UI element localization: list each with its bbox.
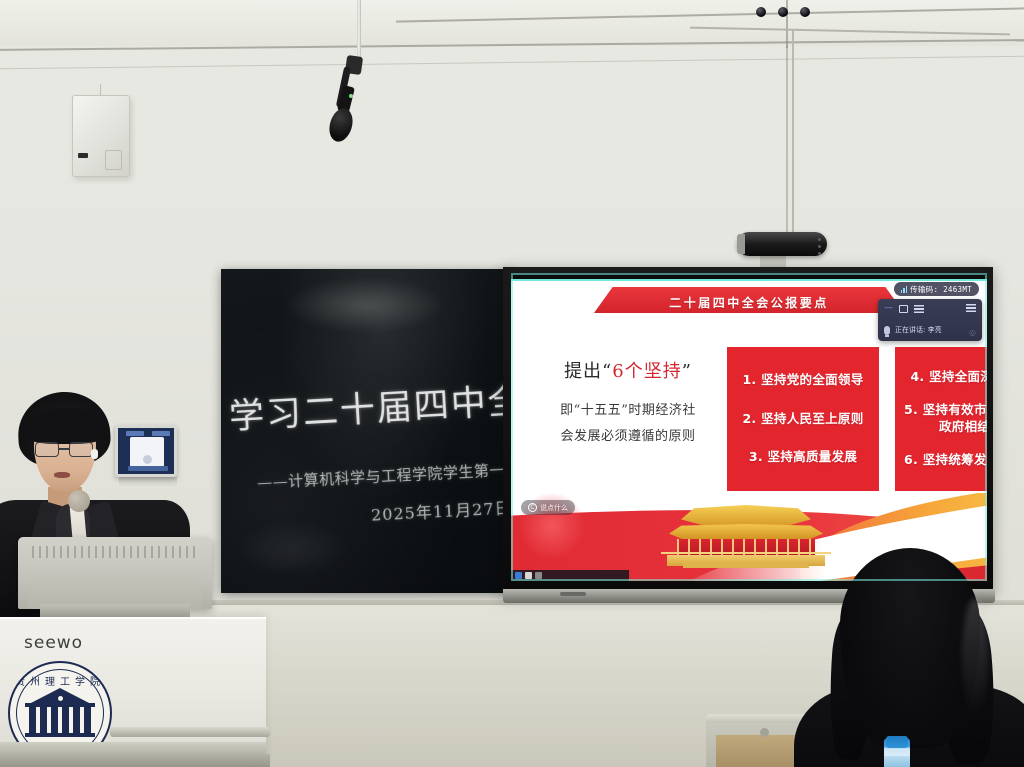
- display-bezel-vent: [560, 592, 586, 596]
- screen-teal-edge: [511, 279, 987, 281]
- student-hair-highlight: [962, 598, 988, 718]
- seal-dot: [58, 696, 63, 701]
- menu-icon[interactable]: [914, 305, 924, 313]
- taskbar-app-icon[interactable]: [535, 572, 542, 579]
- monitor-face: [28, 563, 202, 609]
- classroom-scene: 学习二十届四中全会精神 ——计算机科学与工程学院学生第一二三党支部 2025年1…: [0, 0, 1024, 767]
- microphone-icon: [884, 326, 890, 335]
- seal-building-icon: [21, 688, 99, 742]
- blackboard-date: 2025年11月27日: [370, 494, 512, 525]
- podium-rail: [110, 727, 270, 737]
- desk-edge: [0, 754, 270, 767]
- ceiling: [0, 0, 1024, 46]
- slide-lead-body-line2: 会发展必须遵循的原则: [533, 425, 723, 449]
- camera-side-cap: [737, 234, 745, 254]
- water-bottle-cap[interactable]: [886, 736, 908, 748]
- glasses-icon: [35, 442, 97, 457]
- taskbar-app-icon[interactable]: [515, 572, 522, 579]
- overlay-window-controls[interactable]: —: [884, 304, 924, 313]
- slide-lead-heading: 提出“6个坚持”: [533, 357, 723, 383]
- water-bottle-label: [884, 756, 910, 767]
- bench-bolt: [760, 728, 769, 737]
- podium-monitor[interactable]: [18, 537, 212, 609]
- slide-lead-block: 提出“6个坚持” 即“十五五”时期经济社 会发展必须遵循的原则: [533, 357, 723, 449]
- wall-seam: [786, 46, 788, 246]
- speaker-led-icon: [78, 153, 88, 158]
- chalk-smudge: [233, 519, 353, 579]
- point-item: 3. 坚持高质量发展: [735, 449, 871, 466]
- seal-windows: [25, 707, 95, 733]
- banner-center: 二十届四中全会公报要点: [594, 287, 904, 313]
- point-item: 5. 坚持有效市场和有为政府相结合: [903, 402, 987, 436]
- point-item: 1. 坚持党的全面领导: [735, 372, 871, 389]
- glasses-lens: [35, 442, 59, 457]
- points-column-2: 4. 坚持全面深化改革 5. 坚持有效市场和有为政府相结合 6. 坚持统筹发展和…: [895, 347, 987, 491]
- tiananmen-roof-lower: [669, 524, 823, 540]
- glasses-bridge: [59, 448, 69, 450]
- os-taskbar[interactable]: [511, 570, 629, 581]
- point-item: 4. 坚持全面深化改革: [903, 369, 987, 386]
- monitor-vents: [32, 546, 198, 558]
- slide-comment-badge[interactable]: C 说点什么: [521, 500, 575, 515]
- point-item: 6. 坚持统筹发展和安全: [903, 452, 987, 469]
- blackboard-subtitle: ——计算机科学与工程学院学生第一二三党支部: [257, 458, 513, 493]
- podium-brand-label: seewo: [24, 633, 83, 653]
- tiananmen-base-lower: [683, 563, 809, 568]
- points-column-1: 1. 坚持党的全面领导 2. 坚持人民至上原则 3. 坚持高质量发展: [727, 347, 879, 491]
- slide-comment-label: 说点什么: [540, 503, 568, 513]
- blackboard: 学习二十届四中全会精神 ——计算机科学与工程学院学生第一二三党支部 2025年1…: [221, 269, 513, 593]
- blackboard-title: 学习二十届四中全会精神: [228, 385, 510, 436]
- tiananmen-rail: [661, 552, 831, 554]
- microphone-rod: [357, 0, 361, 62]
- overlay-speaker-status: 正在讲话: 李亮: [884, 325, 942, 335]
- slide-lead-body-line1: 即“十五五”时期经济社: [533, 399, 723, 423]
- minimize-icon[interactable]: —: [884, 304, 893, 313]
- glasses-lens: [69, 442, 93, 457]
- comment-icon: C: [528, 503, 537, 512]
- camera-lens-icon: [800, 7, 810, 17]
- wall-seam: [786, 0, 788, 48]
- microphone-led-icon: [349, 94, 353, 98]
- presenter-mouth: [54, 472, 70, 478]
- tiananmen-illustration: [661, 505, 831, 567]
- seated-student: [812, 548, 1024, 767]
- more-icon[interactable]: [966, 304, 976, 312]
- overlay-status-label: 正在讲话: 李亮: [895, 325, 942, 335]
- camera-lens-icon: [778, 7, 788, 17]
- earbud-icon: [91, 449, 98, 459]
- tiananmen-roof-upper: [681, 505, 811, 525]
- student-hair: [840, 548, 980, 748]
- ceiling-cable: [792, 30, 794, 245]
- conference-overlay-panel[interactable]: — 正在讲话: 李亮 ◎: [878, 299, 982, 341]
- monitor-stand: [40, 604, 190, 618]
- display-screen[interactable]: 二十届四中全会公报要点 提出“6个坚持” 即“十五五”时期经济社 会发展必须遵循…: [511, 273, 987, 581]
- camera-lens-icon: [756, 7, 766, 17]
- point-item: 2. 坚持人民至上原则: [735, 411, 871, 428]
- camera-sensor-bar: [737, 232, 827, 256]
- smart-interactive-display[interactable]: 二十届四中全会公报要点 提出“6个坚持” 即“十五五”时期经济社 会发展必须遵循…: [503, 267, 993, 595]
- overlay-watermark: ◎: [969, 328, 976, 337]
- transmission-code-label: 传输码: 2463MT: [910, 284, 972, 295]
- transmission-code-pill: 传输码: 2463MT: [894, 282, 979, 296]
- signal-bars-icon: [901, 286, 908, 293]
- wall-speaker: [72, 95, 130, 177]
- podium-lip: [0, 742, 266, 754]
- taskbar-app-icon[interactable]: [525, 572, 532, 579]
- slide-banner-title: 二十届四中全会公报要点: [669, 294, 829, 311]
- restore-icon[interactable]: [899, 305, 908, 313]
- wall-anchor-dots: [818, 238, 824, 254]
- seal-text: 贵州理工学院: [10, 673, 110, 688]
- chalk-smudge: [283, 277, 448, 333]
